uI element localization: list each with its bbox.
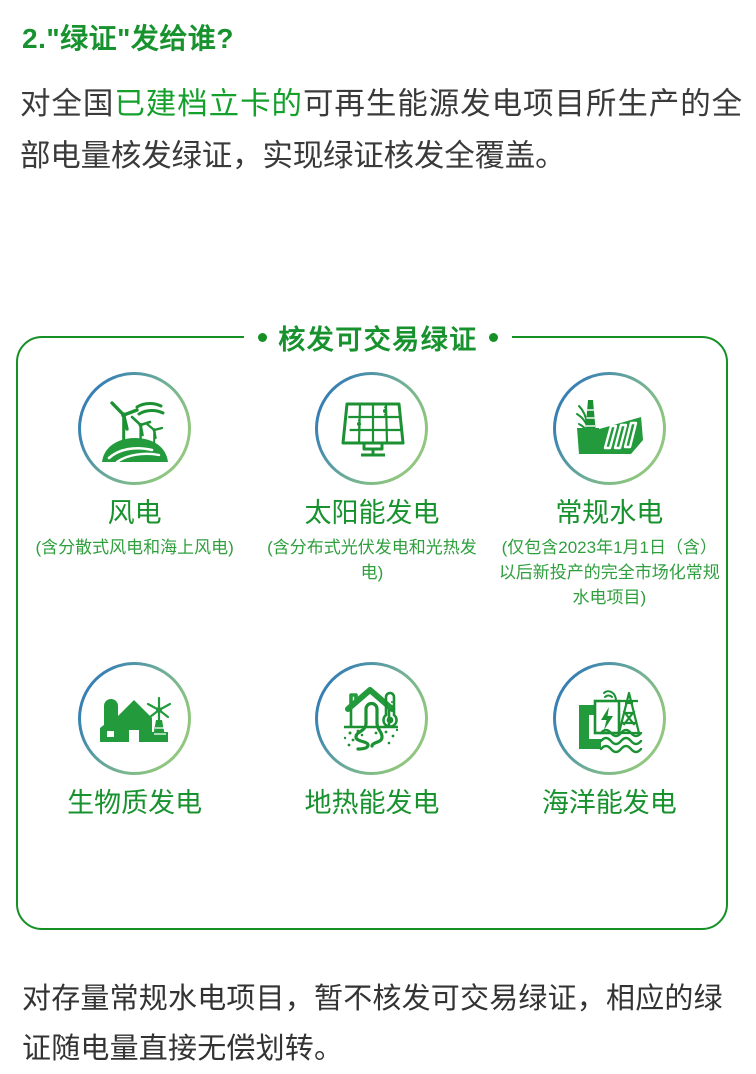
energy-label: 生物质发电 xyxy=(67,789,202,819)
energy-label: 海洋能发电 xyxy=(542,789,677,819)
energy-label: 太阳能发电 xyxy=(304,499,439,529)
energy-label: 地热能发电 xyxy=(304,789,439,819)
energy-label: 风电 xyxy=(108,499,162,529)
footer-note: 对存量常规水电项目，暂不核发可交易绿证，相应的绿证随电量直接无偿划转。 xyxy=(22,974,738,1074)
intro-text-before: 对全国 xyxy=(20,87,114,121)
intro-text-highlight: 已建档立卡的 xyxy=(114,87,303,121)
energy-item-biomass[interactable]: 生物质发电 xyxy=(16,662,253,862)
energy-item-ocean[interactable]: 海洋能发电 xyxy=(491,662,728,862)
geothermal-house-icon xyxy=(315,662,428,775)
ocean-wave-power-icon xyxy=(553,662,666,775)
energy-item-solar[interactable]: 太阳能发电 (含分布式光伏发电和光热发电) xyxy=(253,372,490,662)
energy-item-hydro[interactable]: 常规水电 (仅包含2023年1月1日（含）以后新投产的完全市场化常规水电项目) xyxy=(491,372,728,662)
energy-label: 常规水电 xyxy=(555,499,663,529)
biomass-farm-icon xyxy=(78,662,191,775)
solar-panel-icon xyxy=(315,372,428,485)
hydro-dam-icon xyxy=(553,372,666,485)
energy-item-geothermal[interactable]: 地热能发电 xyxy=(253,662,490,862)
section-heading: 2."绿证"发给谁? xyxy=(22,17,234,57)
energy-type-grid: 风电 (含分散式风电和海上风电) xyxy=(16,372,728,862)
energy-caption: (含分散式风电和海上风电) xyxy=(36,535,234,560)
energy-caption: (含分布式光伏发电和光热发电) xyxy=(257,535,487,585)
energy-item-wind[interactable]: 风电 (含分散式风电和海上风电) xyxy=(16,372,253,662)
wind-turbine-icon xyxy=(78,372,191,485)
energy-caption: (仅包含2023年1月1日（含）以后新投产的完全市场化常规水电项目) xyxy=(494,535,724,610)
intro-paragraph: 对全国已建档立卡的可再生能源发电项目所生产的全部电量核发绿证，实现绿证核发全覆盖… xyxy=(20,78,742,182)
